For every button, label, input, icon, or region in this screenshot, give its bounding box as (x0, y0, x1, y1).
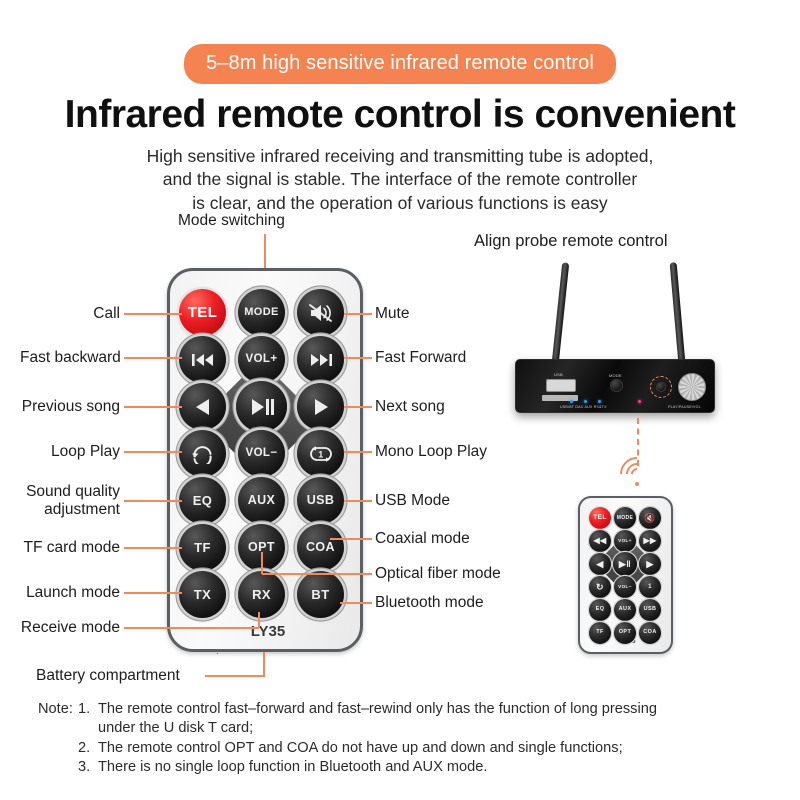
callout-fast-backward: Fast backward (20, 349, 120, 367)
ir-receiver-eye (656, 382, 666, 392)
small-play-pause-icon: ▶‖ (619, 560, 631, 569)
button-rx[interactable]: RX (238, 571, 285, 618)
usb-port[interactable] (546, 379, 576, 392)
button-tel-label: TEL (188, 305, 218, 320)
note-1-continuation: under the U disk T card; (38, 719, 768, 738)
leader-receive-mode-v (258, 612, 260, 628)
button-bt-label: BT (311, 588, 329, 601)
small-button-play-pause[interactable]: ▶‖ (613, 552, 637, 576)
button-mode-label: MODE (244, 307, 279, 318)
button-mono-loop-play[interactable]: 1 (297, 430, 344, 477)
button-bt[interactable]: BT (297, 571, 344, 618)
leader-optical-fiber-v (261, 552, 263, 574)
leader-launch-mode (124, 592, 182, 594)
callout-optical-fiber-mode: Optical fiber mode (375, 565, 501, 583)
button-vol-up[interactable]: VOL+ (238, 336, 285, 383)
notes-block: Note: 1. The remote control fast–forward… (38, 700, 768, 778)
small-button-next-song[interactable]: ▶ (639, 553, 661, 575)
fast-forward-icon (308, 352, 334, 368)
dpad-placeholder (217, 653, 218, 654)
small-button-mode-label: MODE (617, 516, 634, 521)
led-rx-tx (638, 400, 641, 403)
small-button-mono-loop-label: 1 (648, 584, 652, 590)
button-eq[interactable]: EQ (179, 477, 226, 524)
leader-optical-fiber-mode (262, 573, 372, 575)
callout-next-song: Next song (375, 398, 445, 416)
mono-loop-icon: 1 (307, 443, 335, 465)
callout-fast-forward: Fast Forward (375, 349, 466, 367)
callout-tf-card-mode: TF card mode (20, 539, 120, 557)
small-button-mono-loop-play[interactable]: 1 (639, 576, 661, 598)
leader-tf-card-mode (124, 547, 182, 549)
leader-call (124, 313, 182, 315)
small-button-opt-label: OPT (619, 630, 632, 636)
button-play-pause[interactable] (236, 381, 287, 432)
remote-model-name: LY35 (170, 623, 366, 640)
callout-battery-compartment: Battery compartment (36, 667, 180, 685)
mute-icon (308, 303, 334, 323)
note-3-number: 3. (78, 758, 98, 777)
button-tx[interactable]: TX (179, 571, 226, 618)
note-1-number: 1. (78, 700, 98, 719)
callout-align-probe: Align probe remote control (474, 232, 668, 251)
svg-text:1: 1 (318, 449, 323, 459)
small-button-fast-forward[interactable]: ▶▶ (639, 530, 661, 552)
callout-previous-song: Previous song (20, 398, 120, 416)
small-button-tf[interactable]: TF (589, 622, 611, 644)
device-led-labels: USB/BT DAC AUX RX&TX (560, 405, 607, 409)
leader-fast-backward (124, 357, 182, 359)
small-button-vol-down[interactable]: VOL− (614, 576, 636, 598)
device-mode-button[interactable] (610, 379, 623, 392)
button-fast-forward[interactable] (297, 336, 344, 383)
callout-mode-switching: Mode switching (178, 212, 285, 230)
small-button-tf-label: TF (596, 630, 604, 636)
small-next-song-icon: ▶ (646, 560, 653, 569)
button-tf-label: TF (194, 541, 211, 554)
led-aux (598, 400, 601, 403)
button-fast-backward[interactable] (179, 336, 226, 383)
small-button-mute[interactable]: 🔇 (639, 507, 661, 529)
small-fast-backward-icon: ◀◀ (593, 537, 606, 545)
small-button-vol-down-label: VOL− (618, 585, 632, 590)
small-button-fast-backward[interactable]: ◀◀ (589, 530, 611, 552)
note-1-text: The remote control fast–forward and fast… (98, 700, 657, 719)
leader-loop-play (124, 451, 182, 453)
button-aux-label: AUX (248, 494, 276, 507)
small-loop-play-icon: ↻ (596, 583, 604, 592)
ir-wave-dot (635, 482, 639, 486)
note-row-2: 2. The remote control OPT and COA do not… (38, 739, 768, 758)
device-volume-knob[interactable] (678, 373, 706, 401)
previous-song-icon (192, 397, 214, 417)
callout-coaxial-mode: Coaxial mode (375, 530, 470, 548)
callout-mono-loop-play: Mono Loop Play (375, 443, 487, 461)
leader-battery-compartment (205, 675, 265, 677)
led-usb-bt (570, 400, 573, 403)
device-mode-label: MODE (609, 373, 622, 378)
button-tf[interactable]: TF (179, 524, 226, 571)
leader-fast-forward (344, 357, 372, 359)
play-pause-icon (249, 397, 275, 417)
button-eq-label: EQ (193, 494, 213, 507)
leader-sound-quality (124, 500, 182, 502)
note-row-3: 3. There is no single loop function in B… (38, 758, 768, 777)
button-rx-label: RX (252, 588, 271, 601)
next-song-icon (310, 397, 332, 417)
callout-launch-mode: Launch mode (20, 584, 120, 602)
small-button-eq[interactable]: EQ (589, 599, 611, 621)
small-mute-icon: 🔇 (644, 514, 656, 523)
small-button-mode[interactable]: MODE (614, 507, 636, 529)
small-button-aux-label: AUX (619, 607, 632, 613)
led-dac (584, 400, 587, 403)
callout-usb-mode: USB Mode (375, 492, 450, 510)
callout-receive-mode: Receive mode (20, 619, 120, 637)
device-usb-label: USB (554, 372, 563, 377)
fast-backward-icon (190, 352, 216, 368)
notes-prefix: Note: (38, 700, 78, 719)
small-button-previous-song[interactable]: ◀ (589, 553, 611, 575)
note-2-text: The remote control OPT and COA do not ha… (98, 739, 623, 758)
button-previous-song[interactable] (179, 383, 226, 430)
button-aux[interactable]: AUX (238, 477, 285, 524)
leader-mono-loop-play (344, 451, 372, 453)
small-button-aux[interactable]: AUX (614, 599, 636, 621)
antenna-right (670, 262, 686, 370)
small-button-coa-label: COA (643, 630, 656, 636)
leader-bluetooth-mode (340, 602, 372, 604)
note-row-1: Note: 1. The remote control fast–forward… (38, 700, 768, 719)
small-button-tel-label: TEL (593, 515, 606, 522)
button-usb-label: USB (307, 494, 335, 507)
small-button-usb-label: USB (644, 607, 657, 613)
callout-bluetooth-mode: Bluetooth mode (375, 594, 484, 612)
button-coa-label: COA (306, 541, 335, 554)
leader-coaxial-mode (330, 538, 372, 540)
button-tel[interactable]: TEL (179, 289, 226, 336)
button-vol-up-label: VOL+ (246, 354, 278, 366)
leader-previous-song (124, 406, 182, 408)
leader-receive-mode (124, 627, 259, 629)
device-volume-label: PLAY/PAUSE/VOL (668, 405, 701, 409)
small-button-eq-label: EQ (596, 607, 605, 613)
callout-mute: Mute (375, 305, 409, 323)
button-tx-label: TX (194, 588, 211, 601)
small-button-loop-play[interactable]: ↻ (589, 576, 611, 598)
small-button-usb[interactable]: USB (639, 599, 661, 621)
button-loop-play[interactable] (179, 430, 226, 477)
callout-call: Call (40, 305, 120, 323)
button-vol-down[interactable]: VOL− (238, 430, 285, 477)
leader-mute (344, 313, 372, 315)
callout-loop-play: Loop Play (30, 443, 120, 461)
small-fast-forward-icon: ▶▶ (643, 537, 656, 545)
small-button-vol-up-label: VOL+ (618, 539, 632, 544)
button-coa[interactable]: COA (297, 524, 344, 571)
leader-next-song (344, 406, 372, 408)
small-button-tel[interactable]: TEL (589, 507, 611, 529)
callout-sound-quality: Sound quality adjustment (0, 483, 120, 519)
small-button-opt[interactable]: OPT (614, 622, 636, 644)
small-button-vol-up[interactable]: VOL+ (614, 530, 636, 552)
small-previous-song-icon: ◀ (596, 560, 603, 569)
button-vol-down-label: VOL− (246, 448, 278, 460)
leader-battery-compartment-v (263, 652, 265, 676)
button-mode[interactable]: MODE (238, 289, 285, 336)
button-next-song[interactable] (297, 383, 344, 430)
small-button-coa[interactable]: COA (639, 622, 661, 644)
diagram-stage: Mode switching Align probe remote contro… (0, 0, 800, 800)
button-mute[interactable] (297, 289, 344, 336)
note-3-text: There is no single loop function in Blue… (98, 758, 487, 777)
antenna-left (551, 262, 569, 370)
leader-usb-mode (344, 500, 372, 502)
receiver-device[interactable]: USB MODE USB/BT DAC AUX RX&TX PLAY/PAUSE… (515, 359, 715, 413)
loop-play-icon (189, 443, 216, 464)
button-usb[interactable]: USB (297, 477, 344, 524)
note-2-number: 2. (78, 739, 98, 758)
